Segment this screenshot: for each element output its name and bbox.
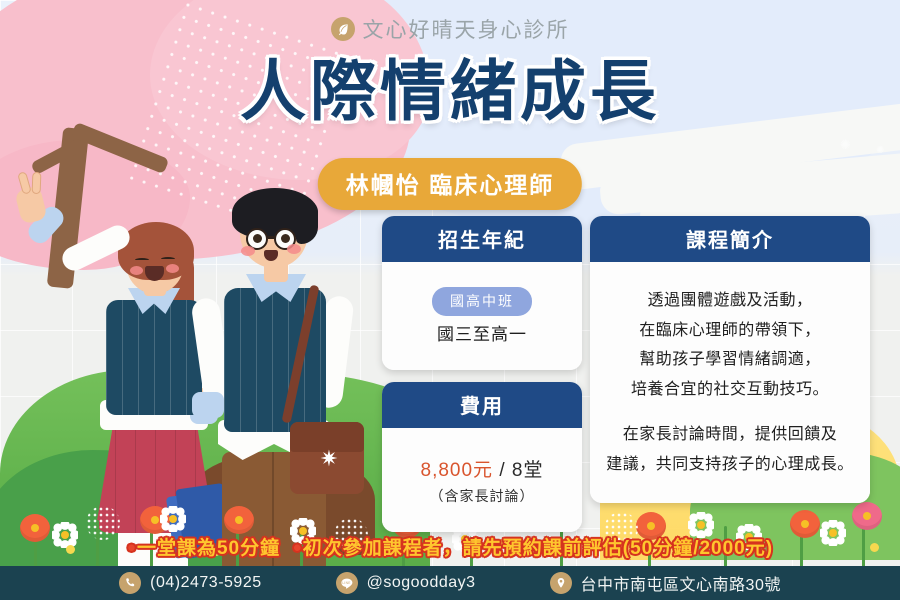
notice-strip: ●一堂課為50分鐘 ●初次參加課程者，請先預約課前評估(50分鐘/2000元) bbox=[0, 533, 900, 560]
page-title: 人際情緒成長 bbox=[0, 58, 900, 124]
age-range-text: 國三至高一 bbox=[437, 320, 527, 345]
age-card: 招生年紀 國高中班 國三至高一 bbox=[382, 216, 582, 370]
course-poster: ✺ ✺ bbox=[0, 0, 900, 600]
notice-item-1: 一堂課為50分鐘 bbox=[137, 538, 280, 559]
intro-paragraph-1: 透過團體遊戲及活動，在臨床心理師的帶領下，幫助孩子學習情緒調適，培養合宜的社交互… bbox=[606, 286, 854, 404]
line-id-text: @sogoodday3 bbox=[367, 574, 476, 592]
svg-text:LINE: LINE bbox=[342, 581, 351, 585]
left-card-column: 招生年紀 國高中班 國三至高一 費用 8,800元 / 8堂 （含家長討論） bbox=[382, 216, 582, 532]
bird-icon: ✺ bbox=[840, 138, 851, 151]
intro-card-heading: 課程簡介 bbox=[590, 216, 870, 262]
leaf-icon bbox=[331, 17, 355, 41]
age-card-body: 國高中班 國三至高一 bbox=[382, 262, 582, 370]
footer-phone[interactable]: (04)2473-5925 bbox=[119, 572, 261, 594]
phone-icon bbox=[119, 572, 141, 594]
brand-header: 文心好晴天身心診所 bbox=[0, 14, 900, 44]
intro-card-body: 透過團體遊戲及活動，在臨床心理師的帶領下，幫助孩子學習情緒調適，培養合宜的社交互… bbox=[590, 262, 870, 503]
fee-card: 費用 8,800元 / 8堂 （含家長討論） bbox=[382, 382, 582, 532]
notice-item-2: 初次參加課程者，請先預約課前評估(50分鐘/2000元) bbox=[303, 538, 773, 559]
clinic-name: 文心好晴天身心診所 bbox=[363, 14, 570, 44]
fee-note: （含家長討論） bbox=[430, 486, 535, 506]
footer-line-id[interactable]: LINE @sogoodday3 bbox=[336, 572, 476, 594]
info-cards: 招生年紀 國高中班 國三至高一 費用 8,800元 / 8堂 （含家長討論） 課 bbox=[382, 216, 870, 532]
notice-bullet-icon: ● bbox=[293, 539, 303, 556]
bird-icon: ✺ bbox=[876, 146, 884, 156]
fee-card-heading: 費用 bbox=[382, 382, 582, 428]
fee-unit: / 8堂 bbox=[499, 460, 543, 481]
intro-card: 課程簡介 透過團體遊戲及活動，在臨床心理師的帶領下，幫助孩子學習情緒調適，培養合… bbox=[590, 216, 870, 503]
contact-footer: (04)2473-5925 LINE @sogoodday3 台中市南屯區文心南… bbox=[0, 566, 900, 600]
lecturer-badge: 林幗怡 臨床心理師 bbox=[318, 158, 582, 210]
fee-line: 8,800元 / 8堂 bbox=[421, 455, 544, 482]
location-pin-icon bbox=[550, 572, 572, 594]
footer-address[interactable]: 台中市南屯區文心南路30號 bbox=[550, 571, 781, 595]
intro-paragraph-2: 在家長討論時間，提供回饋及建議，共同支持孩子的心理成長。 bbox=[606, 420, 854, 479]
address-text: 台中市南屯區文心南路30號 bbox=[581, 571, 781, 595]
phone-number: (04)2473-5925 bbox=[150, 574, 261, 592]
age-group-badge: 國高中班 bbox=[432, 287, 532, 316]
line-chat-icon: LINE bbox=[336, 572, 358, 594]
notice-bullet-icon: ● bbox=[127, 539, 137, 556]
fee-amount: 8,800元 bbox=[421, 460, 494, 481]
fee-card-body: 8,800元 / 8堂 （含家長討論） bbox=[382, 428, 582, 532]
age-card-heading: 招生年紀 bbox=[382, 216, 582, 262]
